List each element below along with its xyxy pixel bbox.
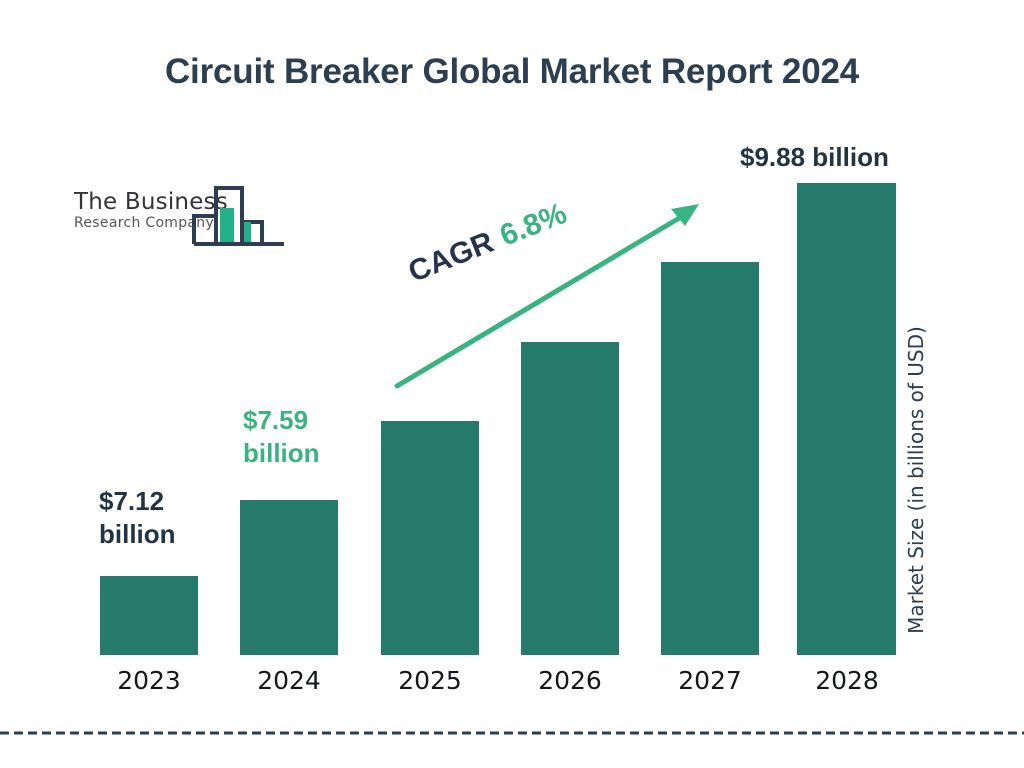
value-callout-2023-line2: billion [99,518,176,551]
value-callout-2024-line2: billion [243,437,320,470]
value-callout-2024: $7.59 billion [243,404,320,469]
yaxis-title-text: Market Size (in billions of USD) [904,290,928,670]
cagr-label: CAGR [404,226,498,289]
xaxis-label-2024: 2024 [229,666,349,695]
xaxis-label-2023: 2023 [89,666,209,695]
value-callout-2024-line1: $7.59 [243,404,320,437]
value-callout-2023: $7.12 billion [99,485,176,550]
bar-2028 [797,183,896,655]
cagr-annotation: CAGR6.8% [404,197,572,290]
market-size-bar-chart: Circuit Breaker Global Market Report 202… [0,0,1024,768]
bar-2026 [521,342,619,655]
xaxis-label-2025: 2025 [370,666,490,695]
xaxis-label-2028: 2028 [787,666,907,695]
bar-2024 [240,500,338,655]
yaxis-title: Market Size (in billions of USD) [904,290,928,670]
bar-2027 [661,262,759,655]
company-logo: The Business Research Company [74,186,284,258]
value-callout-2028: $9.88 billion [740,141,889,174]
value-callout-2023-line1: $7.12 [99,485,176,518]
cagr-value: 6.8% [496,197,572,253]
xaxis-label-2027: 2027 [650,666,770,695]
bar-2023 [100,576,198,655]
value-callout-2028-line1: $9.88 billion [740,141,889,174]
xaxis-label-2026: 2026 [510,666,630,695]
page-title: Circuit Breaker Global Market Report 202… [0,52,1024,92]
bar-2025 [381,421,479,655]
bar-chart-logo-mark [192,182,286,259]
